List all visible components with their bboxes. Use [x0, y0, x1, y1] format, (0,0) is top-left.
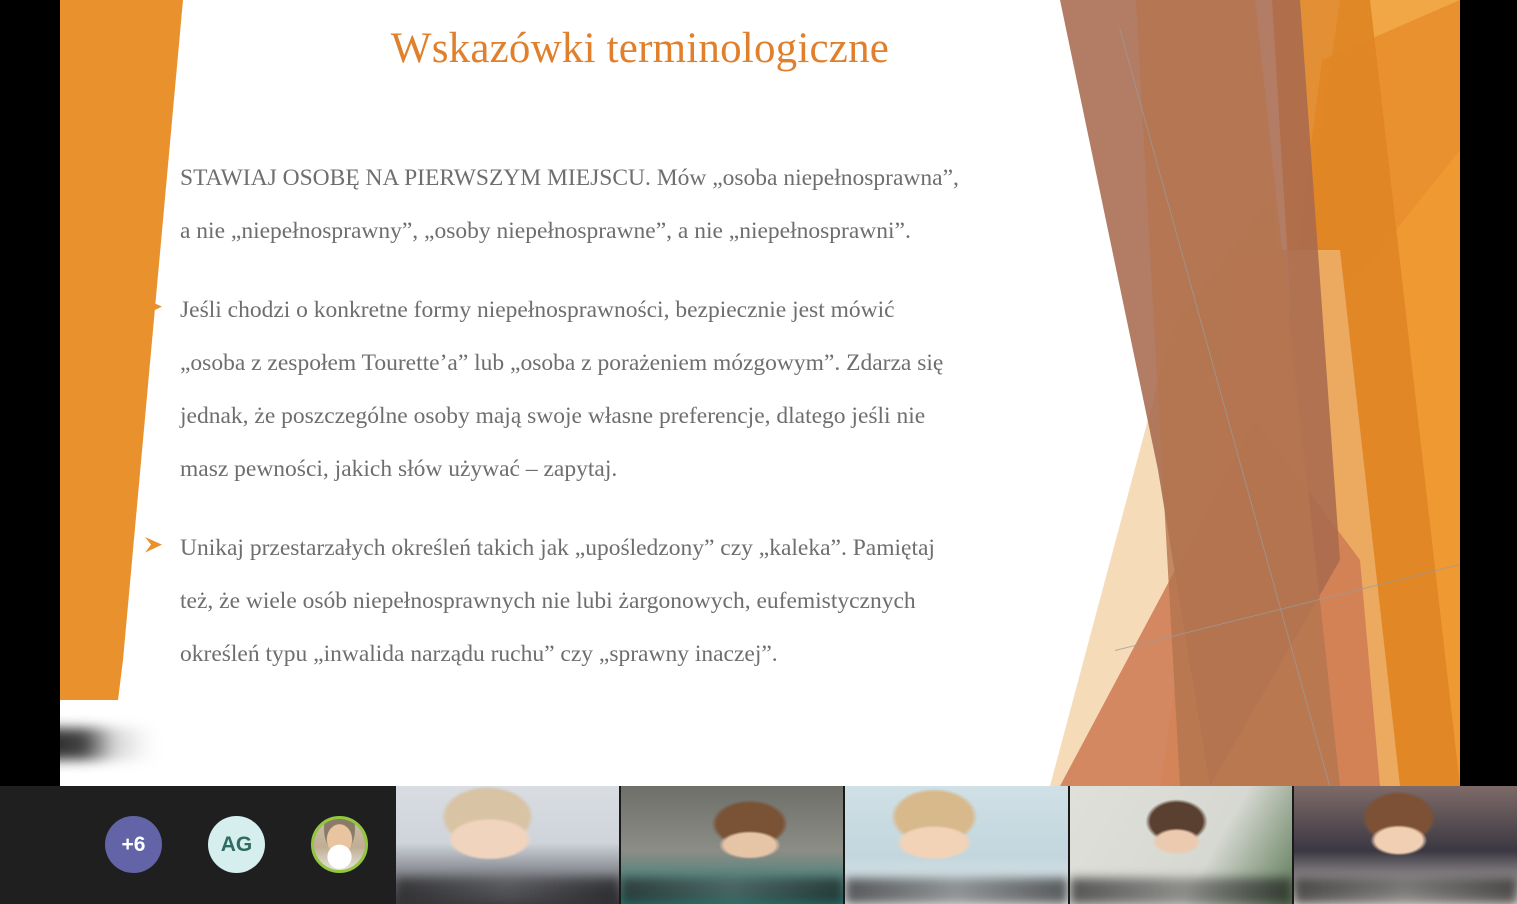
avatar-initials-label: AG [221, 833, 253, 857]
presentation-slide[interactable]: Wskazówki terminologiczne STAWIAJ OSOBĘ … [60, 0, 1460, 786]
video-tile[interactable] [1070, 786, 1295, 904]
slide-body: STAWIAJ OSOBĘ NA PIERWSZYM MIEJSCU. Mów … [140, 152, 1150, 707]
participant-name-label [621, 878, 844, 904]
slide-title: Wskazówki terminologiczne [60, 24, 1220, 73]
slide-bullet-3: Unikaj przestarzałych określeń takich ja… [140, 522, 1150, 681]
video-tile-row [396, 786, 1517, 904]
participant-name-label [396, 878, 619, 904]
arrow-bullet-icon [144, 165, 166, 185]
participant-name-label [1294, 878, 1517, 904]
participant-name-label [1070, 878, 1293, 904]
bullet-2-line-4: masz pewności, jakich słów używać – zapy… [180, 443, 1150, 496]
participant-name-label [845, 878, 1068, 904]
avatar-group: +6 AG [0, 786, 396, 904]
video-tile[interactable] [621, 786, 846, 904]
screen-share-region[interactable]: Wskazówki terminologiczne STAWIAJ OSOBĘ … [0, 0, 1517, 786]
participant-avatar-photo[interactable] [311, 816, 368, 873]
participant-avatar-initials[interactable]: AG [208, 816, 265, 873]
bullet-3-line-1: Unikaj przestarzałych określeń takich ja… [180, 522, 1150, 575]
bullet-2-line-1: Jeśli chodzi o konkretne formy niepełnos… [180, 284, 1150, 337]
bullet-2-line-3: jednak, że poszczególne osoby mają swoje… [180, 390, 1150, 443]
video-tile[interactable] [845, 786, 1070, 904]
video-tile[interactable] [1294, 786, 1517, 904]
bullet-1-line-2: a nie „niepełnosprawny”, „osoby niepełno… [180, 205, 1150, 258]
video-tile[interactable] [396, 786, 621, 904]
participant-filmstrip: +6 AG [0, 786, 1517, 904]
slide-bullet-2: Jeśli chodzi o konkretne formy niepełnos… [140, 284, 1150, 496]
slide-bullet-1: STAWIAJ OSOBĘ NA PIERWSZYM MIEJSCU. Mów … [140, 152, 1150, 258]
bullet-2-line-2: „osoba z zespołem Tourette’a” lub „osoba… [180, 337, 1150, 390]
bullet-1-line-1: STAWIAJ OSOBĘ NA PIERWSZYM MIEJSCU. Mów … [180, 152, 1150, 205]
bullet-3-line-3: określeń typu „inwalida narządu ruchu” c… [180, 628, 1150, 681]
avatar-photo-image [314, 819, 365, 870]
overflow-count-label: +6 [122, 833, 146, 857]
arrow-bullet-icon [144, 535, 166, 555]
meeting-stage: Wskazówki terminologiczne STAWIAJ OSOBĘ … [0, 0, 1517, 904]
arrow-bullet-icon [144, 297, 166, 317]
blurred-redaction-mark [60, 728, 158, 760]
bullet-3-line-2: też, że wiele osób niepełnosprawnych nie… [180, 575, 1150, 628]
overflow-participants-avatar[interactable]: +6 [105, 816, 162, 873]
